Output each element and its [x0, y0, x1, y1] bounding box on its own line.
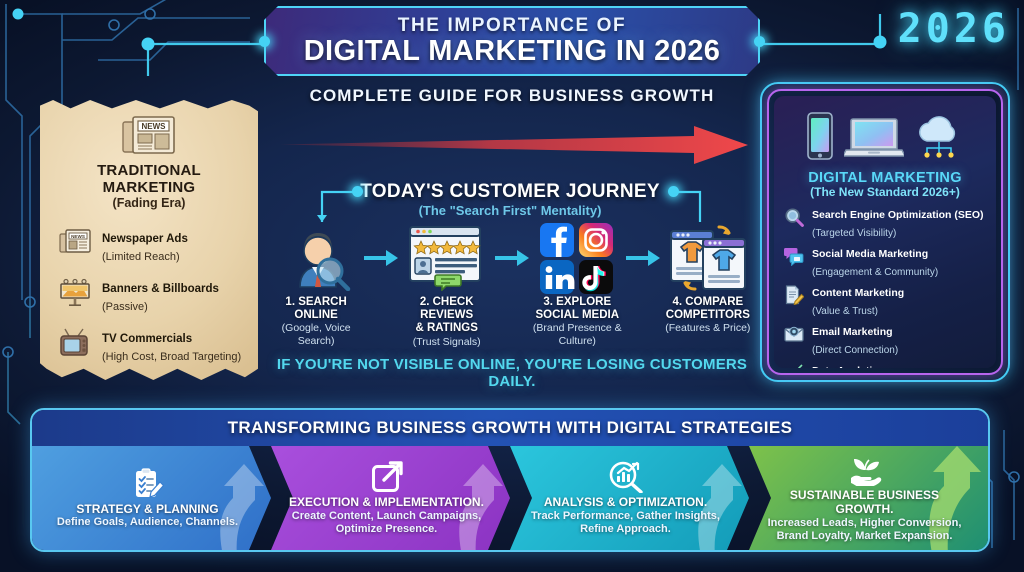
digital-subtitle: (The New Standard 2026+) — [783, 185, 987, 199]
review-stars-icon — [407, 222, 487, 294]
compare-products-icon — [667, 222, 749, 294]
journey-subtitle: (The "Search First" Mentality) — [300, 203, 720, 218]
envelope-icon — [783, 322, 805, 344]
item-name: Content Marketing — [812, 287, 904, 299]
journey-step-label: 1. SEARCH ONLINE — [268, 296, 364, 322]
hand-sprout-icon — [847, 453, 883, 487]
bar-chart-icon — [783, 361, 805, 368]
stage-title: EXECUTION & IMPLEMENTATION. — [289, 496, 484, 510]
item-note: (Passive) — [102, 301, 148, 313]
item-name: Search Engine Optimization (SEO) — [812, 209, 984, 221]
stage-title: STRATEGY & PLANNING — [76, 503, 218, 517]
document-pencil-icon — [783, 283, 805, 305]
laptop-icon — [844, 115, 904, 166]
person-search-icon — [278, 222, 354, 294]
journey-arrow-icon — [495, 222, 529, 294]
journey-step: 4. COMPARE COMPETITORS (Features & Price… — [660, 222, 756, 335]
journey-step: 3. EXPLORE SOCIAL MEDIA (Brand Presence … — [529, 222, 625, 347]
list-item: TV Commercials (High Cost, Broad Targeti… — [52, 328, 246, 365]
stage-execution-implementation[interactable]: EXECUTION & IMPLEMENTATION. Create Conte… — [271, 446, 510, 550]
smartphone-icon — [806, 111, 834, 166]
journey-node-right-icon — [668, 186, 679, 197]
external-link-icon — [371, 460, 403, 494]
list-item: Banners & Billboards (Passive) — [52, 278, 246, 315]
item-name: Banners & Billboards — [102, 283, 219, 295]
journey-title: TODAY'S CUSTOMER JOURNEY — [300, 181, 720, 203]
item-note: (Engagement & Community) — [812, 267, 938, 278]
header-line-2: DIGITAL MARKETING IN 2026 — [304, 35, 721, 68]
svg-text:NEWS: NEWS — [142, 122, 167, 131]
transition-arrow-icon — [280, 124, 748, 166]
stage-analysis-optimization[interactable]: ANALYSIS & OPTIMIZATION. Track Performan… — [510, 446, 749, 550]
header-node-right-icon — [754, 36, 765, 47]
journey-node-left-icon — [352, 186, 363, 197]
header-subtitle: COMPLETE GUIDE FOR BUSINESS GROWTH — [264, 86, 760, 106]
list-item: Social Media Marketing (Engagement & Com… — [783, 244, 987, 280]
item-name: Newspaper Ads — [102, 233, 188, 245]
traditional-subtitle: (Fading Era) — [52, 196, 246, 210]
item-note: (High Cost, Broad Targeting) — [102, 351, 241, 363]
list-item: Email Marketing (Direct Connection) — [783, 322, 987, 358]
clipboard-pencil-icon — [132, 467, 164, 501]
year-badge: 2026 — [898, 6, 1010, 52]
header-line-1: THE IMPORTANCE OF — [398, 15, 626, 37]
journey-step: 1. SEARCH ONLINE (Google, Voice Search) — [268, 222, 364, 347]
traditional-title: TRADITIONAL MARKETING — [52, 162, 246, 196]
digital-items-list: Search Engine Optimization (SEO) (Target… — [783, 205, 987, 368]
stage-title: ANALYSIS & OPTIMIZATION. — [544, 496, 707, 510]
item-name: Email Marketing — [812, 326, 893, 338]
stage-desc: Track Performance, Gather Insights, Refi… — [528, 510, 723, 536]
list-item: Data Analytics (Informed Decisions) — [783, 361, 987, 368]
journey-step-note: (Brand Presence & Culture) — [529, 322, 625, 347]
social-grid-icon — [539, 222, 615, 294]
bottom-banner-header: TRANSFORMING BUSINESS GROWTH WITH DIGITA… — [32, 410, 988, 446]
stage-desc: Create Content, Launch Campaigns, Optimi… — [289, 510, 484, 536]
digital-marketing-panel: DIGITAL MARKETING (The New Standard 2026… — [760, 82, 1010, 382]
list-item: NEWS Newspaper Ads (Limited Reach) — [52, 228, 246, 265]
item-name: Data Analytics — [812, 365, 884, 368]
journey-step-label: 3. EXPLORE SOCIAL MEDIA — [536, 296, 620, 322]
chart-magnifier-icon — [609, 460, 643, 494]
stage-desc: Define Goals, Audience, Channels. — [57, 516, 238, 529]
stage-desc: Increased Leads, Higher Conversion, Bran… — [767, 517, 962, 543]
journey-step-label: 2. CHECK REVIEWS & RATINGS — [399, 296, 495, 336]
svg-text:NEWS: NEWS — [71, 234, 85, 239]
magnifier-icon — [783, 205, 805, 227]
journey-step-note: (Features & Price) — [665, 322, 750, 334]
digital-devices-row — [783, 104, 987, 166]
journey-step: 2. CHECK REVIEWS & RATINGS (Trust Signal… — [399, 222, 495, 348]
billboard-icon — [58, 278, 92, 306]
stage-strategy-planning[interactable]: STRATEGY & PLANNING Define Goals, Audien… — [32, 446, 271, 550]
newspaper-icon: NEWS — [58, 228, 92, 254]
header-node-left-icon — [259, 36, 270, 47]
digital-title: DIGITAL MARKETING — [783, 170, 987, 186]
television-icon — [58, 328, 92, 358]
list-item: Search Engine Optimization (SEO) (Target… — [783, 205, 987, 241]
item-note: (Direct Connection) — [812, 345, 898, 356]
bottom-banner: TRANSFORMING BUSINESS GROWTH WITH DIGITA… — [30, 408, 990, 552]
item-name: Social Media Marketing — [812, 248, 928, 260]
traditional-items-list: NEWS Newspaper Ads (Limited Reach) — [52, 228, 246, 365]
item-name: TV Commercials — [102, 333, 192, 345]
visibility-warning: IF YOU'RE NOT VISIBLE ONLINE, YOU'RE LOS… — [264, 356, 760, 390]
stage-title: SUSTAINABLE BUSINESS GROWTH. — [767, 489, 962, 517]
journey-step-note: (Google, Voice Search) — [268, 322, 364, 347]
journey-arrow-icon — [364, 222, 398, 294]
journey-steps: 1. SEARCH ONLINE (Google, Voice Search) — [268, 222, 756, 340]
item-note: (Value & Trust) — [812, 306, 878, 317]
header-banner: THE IMPORTANCE OF DIGITAL MARKETING IN 2… — [264, 6, 760, 76]
journey-step-note: (Trust Signals) — [413, 336, 481, 348]
item-note: (Targeted Visibility) — [812, 228, 896, 239]
journey-arrow-icon — [625, 222, 659, 294]
journey-step-label: 4. COMPARE COMPETITORS — [666, 296, 750, 322]
bottom-banner-stages: STRATEGY & PLANNING Define Goals, Audien… — [32, 446, 988, 550]
bottom-banner-title: TRANSFORMING BUSINESS GROWTH WITH DIGITA… — [228, 418, 793, 438]
cloud-icon — [914, 115, 964, 166]
stage-sustainable-growth[interactable]: SUSTAINABLE BUSINESS GROWTH. Increased L… — [749, 446, 988, 550]
newspaper-header-icon: NEWS — [52, 114, 246, 156]
item-note: (Limited Reach) — [102, 251, 180, 263]
traditional-marketing-panel: NEWS TRADITIONAL MARKETING (Fading Era) … — [40, 100, 258, 380]
list-item: Content Marketing (Value & Trust) — [783, 283, 987, 319]
chat-bubbles-icon — [783, 244, 805, 266]
